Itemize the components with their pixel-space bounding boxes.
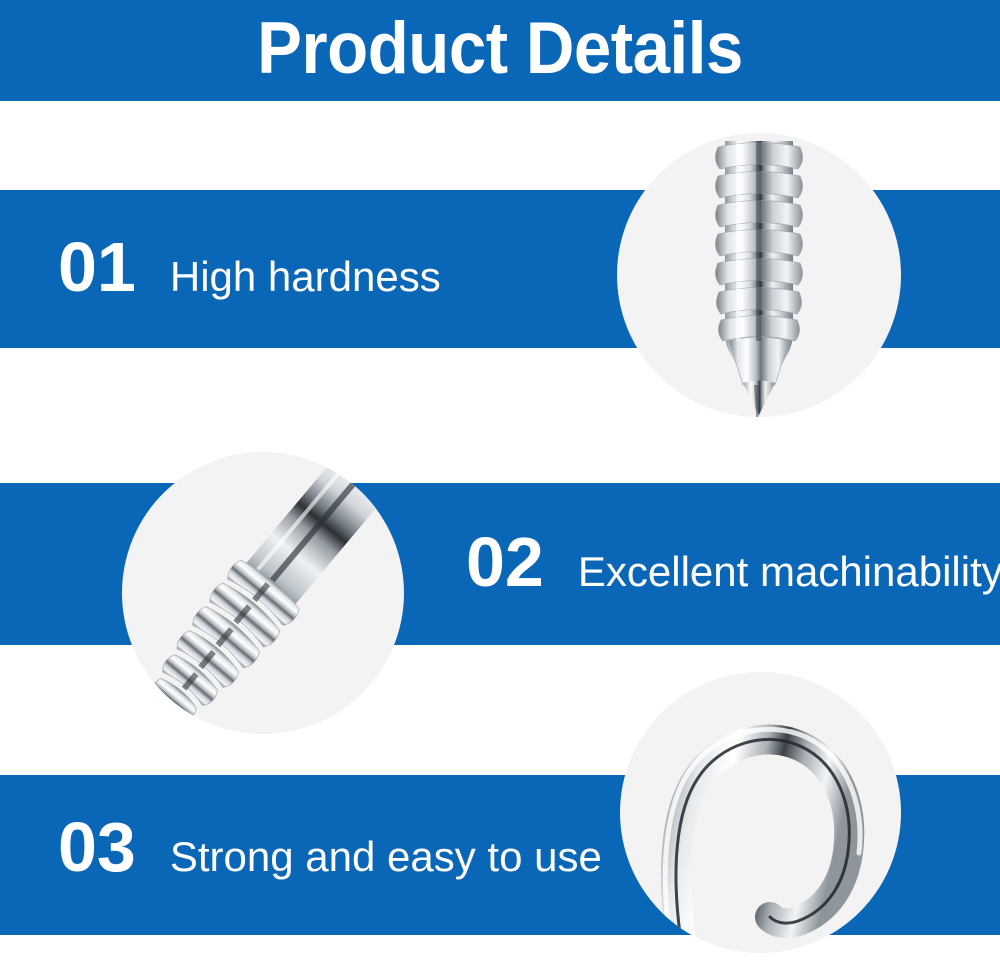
feature-label-2: Excellent machinability <box>578 551 1000 593</box>
screw-hook-photo <box>620 672 901 953</box>
feature-number-3: 03 <box>58 812 136 882</box>
feature-label-1: High hardness <box>170 256 441 298</box>
feature-label-3: Strong and easy to use <box>170 836 602 878</box>
feature-row-2: 02 Excellent machinability <box>466 527 1000 597</box>
feature-number-2: 02 <box>466 527 544 597</box>
feature-row-3: 03 Strong and easy to use <box>58 812 602 882</box>
feature-number-1: 01 <box>58 232 136 302</box>
title-banner: Product Details <box>0 0 1000 101</box>
page-title: Product Details <box>257 12 743 89</box>
screw-shank-diagonal-photo <box>122 452 404 734</box>
screw-shank-vertical-photo <box>617 133 901 417</box>
product-details-infographic: Product Details 01 High hardness 02 Exce… <box>0 0 1000 965</box>
feature-row-1: 01 High hardness <box>58 232 441 302</box>
